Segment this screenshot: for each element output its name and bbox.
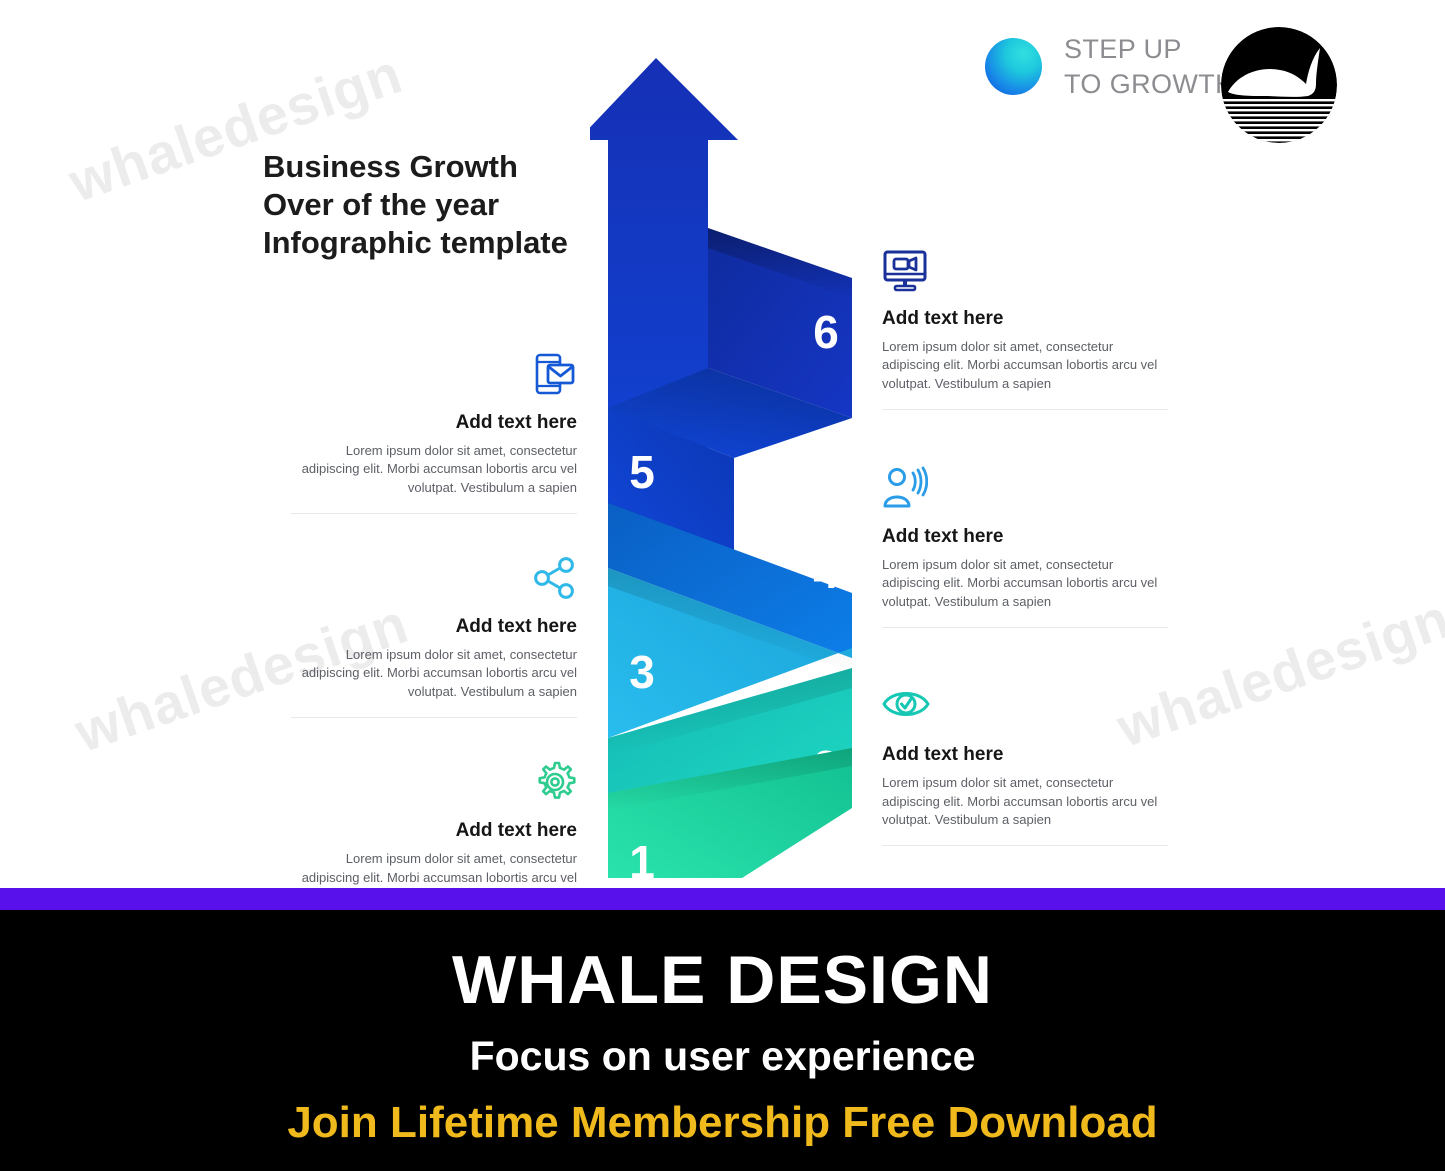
item-body: Lorem ipsum dolor sit amet, consectetur … (291, 850, 577, 888)
item-title: Add text here (882, 308, 1168, 331)
svg-text:6: 6 (813, 306, 839, 358)
item-body: Lorem ipsum dolor sit amet, consectetur … (882, 338, 1168, 393)
monitor-video-icon (882, 248, 1168, 294)
user-broadcast-icon (882, 466, 1168, 512)
banner-cta[interactable]: Join Lifetime Membership Free Download (0, 1101, 1445, 1145)
zigzag-arrow-graphic: 6 5 4 3 2 1 (590, 48, 860, 888)
item-body: Lorem ipsum dolor sit amet, consectetur … (882, 556, 1168, 611)
promo-banner: WHALE DESIGN Focus on user experience Jo… (0, 888, 1445, 1171)
item-body: Lorem ipsum dolor sit amet, consectetur … (291, 646, 577, 701)
divider (291, 513, 577, 514)
list-item: Add text here Lorem ipsum dolor sit amet… (291, 760, 577, 888)
list-item: Add text here Lorem ipsum dolor sit amet… (291, 556, 577, 718)
accent-bar (0, 888, 1445, 910)
item-title: Add text here (882, 526, 1168, 549)
infographic-canvas: whaledesign whaledesign whaledesign STEP… (0, 0, 1445, 888)
banner-subtitle: Focus on user experience (0, 1036, 1445, 1077)
divider (882, 845, 1168, 846)
gear-icon (291, 760, 577, 806)
eye-check-icon (882, 684, 1168, 730)
svg-text:4: 4 (813, 546, 839, 598)
item-title: Add text here (882, 744, 1168, 767)
list-item: Add text here Lorem ipsum dolor sit amet… (882, 248, 1168, 410)
item-body: Lorem ipsum dolor sit amet, consectetur … (291, 442, 577, 497)
share-icon (291, 556, 577, 602)
brand-tagline: STEP UP TO GROWTH (1064, 32, 1235, 101)
mobile-email-icon (291, 352, 577, 398)
gradient-orb-icon (985, 38, 1042, 95)
right-items-column: Add text here Lorem ipsum dolor sit amet… (882, 248, 1168, 888)
banner-title: WHALE DESIGN (0, 946, 1445, 1014)
whale-logo-icon (1220, 26, 1338, 144)
brand-tagline-line2: TO GROWTH (1064, 67, 1235, 102)
divider (291, 717, 577, 718)
item-body: Lorem ipsum dolor sit amet, consectetur … (882, 774, 1168, 829)
list-item: Add text here Lorem ipsum dolor sit amet… (882, 684, 1168, 846)
item-title: Add text here (291, 616, 577, 639)
list-item: Add text here Lorem ipsum dolor sit amet… (291, 352, 577, 514)
brand-tagline-line1: STEP UP (1064, 32, 1235, 67)
left-items-column: Add text here Lorem ipsum dolor sit amet… (291, 352, 577, 888)
item-title: Add text here (291, 820, 577, 843)
svg-text:5: 5 (629, 446, 655, 498)
item-title: Add text here (291, 412, 577, 435)
svg-text:3: 3 (629, 646, 655, 698)
divider (882, 627, 1168, 628)
svg-text:1: 1 (629, 836, 655, 888)
brand-header: STEP UP TO GROWTH (985, 32, 1235, 101)
divider (882, 409, 1168, 410)
list-item: Add text here Lorem ipsum dolor sit amet… (882, 466, 1168, 628)
